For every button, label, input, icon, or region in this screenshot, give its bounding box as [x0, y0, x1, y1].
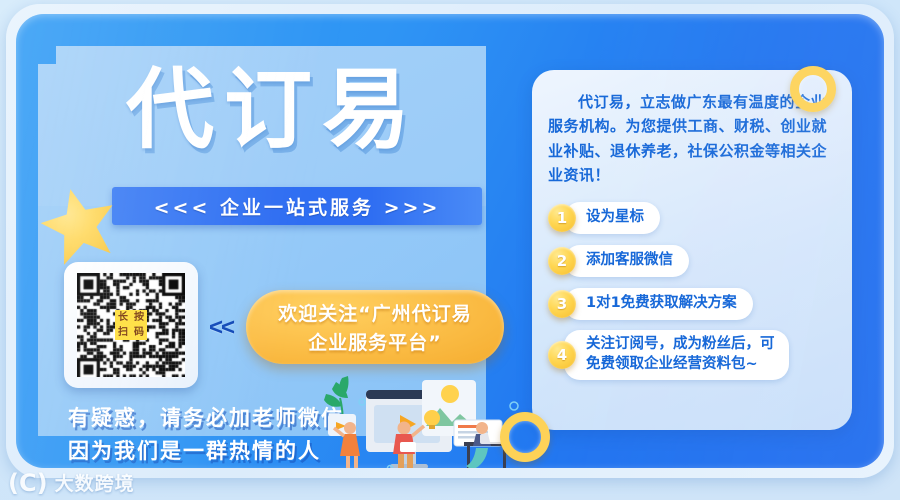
list-item[interactable]: 4 关注订阅号，成为粉丝后，可 免费领取企业经营资料包~ — [548, 330, 836, 380]
step-label: 设为星标 — [564, 202, 660, 234]
promo-line-1: 欢迎关注“广州代订易 — [278, 299, 472, 326]
footer-message: 有疑惑，请务必加老师微信 因为我们是一群热情的人 — [68, 402, 344, 467]
poster-canvas: 代订易 <<< 企业一站式服务 >>> 长 按 扫 码 << 欢迎关注“广州代订… — [0, 0, 900, 500]
blue-card: 代订易 <<< 企业一站式服务 >>> 长 按 扫 码 << 欢迎关注“广州代订… — [16, 14, 884, 468]
step-label: 关注订阅号，成为粉丝后，可 免费领取企业经营资料包~ — [564, 330, 789, 379]
footer-line-1: 有疑惑，请务必加老师微信 — [68, 402, 344, 435]
step-label: 1对1免费获取解决方案 — [564, 288, 753, 320]
promo-line-2: 企业服务平台” — [308, 328, 442, 355]
step-label: 添加客服微信 — [564, 245, 689, 277]
steps-list: 1 设为星标 2 添加客服微信 3 1对1免费获取解决方案 4 关注订阅号，成为… — [548, 201, 836, 380]
step-badge: 4 — [548, 341, 576, 369]
qr-char-2: 扫 — [118, 328, 128, 338]
list-item[interactable]: 3 1对1免费获取解决方案 — [548, 287, 836, 321]
step-label-line-1: 关注订阅号，成为粉丝后，可 — [586, 335, 775, 355]
subtitle-text: <<< 企业一站式服务 >>> — [154, 193, 441, 220]
step-badge: 3 — [548, 290, 576, 318]
brand-title: 代订易 — [126, 66, 486, 154]
team-illustration — [304, 372, 534, 468]
footer-line-2: 因为我们是一群热情的人 — [68, 435, 344, 468]
ring-icon-bottom-left — [500, 412, 550, 462]
promo-pill[interactable]: 欢迎关注“广州代订易 企业服务平台” — [246, 290, 504, 364]
info-panel: 代订易，立志做广东最有温度的企业服务机构。为您提供工商、财税、创业就业补贴、退休… — [532, 70, 852, 430]
left-arrows-icon: << — [209, 314, 233, 342]
list-item[interactable]: 1 设为星标 — [548, 201, 836, 235]
list-item[interactable]: 2 添加客服微信 — [548, 244, 836, 278]
step-badge: 1 — [548, 204, 576, 232]
watermark-text: 大数跨境 — [55, 469, 135, 496]
subtitle-banner: <<< 企业一站式服务 >>> — [112, 187, 482, 225]
step-badge: 2 — [548, 247, 576, 275]
step-label-line-2: 免费领取企业经营资料包~ — [586, 355, 775, 375]
intro-paragraph: 代订易，立志做广东最有温度的企业服务机构。为您提供工商、财税、创业就业补贴、退休… — [548, 90, 836, 187]
qr-char-3: 码 — [134, 328, 144, 338]
qr-char-1: 按 — [134, 313, 144, 323]
qr-code-icon[interactable]: 长 按 扫 码 — [77, 273, 185, 377]
qr-center-label: 长 按 扫 码 — [115, 310, 147, 340]
ring-icon-top-right — [790, 66, 836, 112]
watermark: (C) 大数跨境 — [8, 469, 135, 496]
page-title: 代订易 — [126, 66, 486, 154]
qr-card[interactable]: 长 按 扫 码 — [64, 262, 198, 388]
qr-char-0: 长 — [118, 313, 128, 323]
watermark-logo-icon: (C) — [8, 471, 48, 495]
